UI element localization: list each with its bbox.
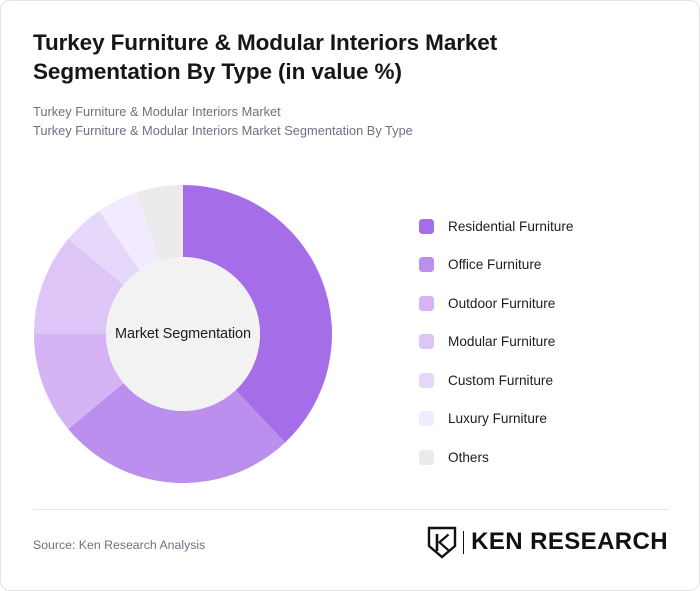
legend-item[interactable]: Outdoor Furniture — [419, 284, 669, 323]
legend-item-label: Luxury Furniture — [448, 411, 547, 426]
legend-swatch — [419, 411, 434, 426]
legend-item[interactable]: Custom Furniture — [419, 361, 669, 400]
chart-legend: Residential FurnitureOffice FurnitureOut… — [419, 207, 669, 477]
logo-wordmark: KEN RESEARCH — [471, 530, 668, 554]
chart-header: Turkey Furniture & Modular Interiors Mar… — [33, 29, 643, 140]
source-note: Source: Ken Research Analysis — [33, 538, 205, 552]
legend-item-label: Modular Furniture — [448, 334, 555, 349]
legend-item-label: Residential Furniture — [448, 219, 573, 234]
legend-swatch — [419, 296, 434, 311]
legend-item-label: Outdoor Furniture — [448, 296, 555, 311]
donut-slice-group — [34, 185, 332, 483]
ken-research-shield-icon — [427, 526, 457, 559]
subtitle-market: Turkey Furniture & Modular Interiors Mar… — [33, 102, 643, 121]
donut-chart: Market Segmentation — [34, 185, 332, 483]
legend-swatch — [419, 219, 434, 234]
legend-item[interactable]: Modular Furniture — [419, 323, 669, 362]
legend-item[interactable]: Others — [419, 438, 669, 477]
subtitle-segmentation: Turkey Furniture & Modular Interiors Mar… — [33, 121, 643, 140]
page-title: Turkey Furniture & Modular Interiors Mar… — [33, 29, 643, 87]
legend-swatch — [419, 257, 434, 272]
chart-area: Market Segmentation Residential Furnitur… — [1, 169, 700, 499]
donut-hole — [106, 257, 260, 411]
footer-divider — [33, 509, 669, 510]
legend-swatch — [419, 373, 434, 388]
legend-item[interactable]: Office Furniture — [419, 246, 669, 285]
legend-item[interactable]: Luxury Furniture — [419, 400, 669, 439]
legend-item-label: Office Furniture — [448, 257, 541, 272]
chart-card: Turkey Furniture & Modular Interiors Mar… — [0, 0, 700, 591]
legend-swatch — [419, 450, 434, 465]
legend-item-label: Others — [448, 450, 489, 465]
legend-item-label: Custom Furniture — [448, 373, 553, 388]
subtitle-group: Turkey Furniture & Modular Interiors Mar… — [33, 102, 643, 141]
donut-svg — [34, 185, 332, 483]
logo-divider — [463, 531, 465, 554]
legend-swatch — [419, 334, 434, 349]
legend-item[interactable]: Residential Furniture — [419, 207, 669, 246]
ken-research-logo: KEN RESEARCH — [427, 525, 668, 559]
